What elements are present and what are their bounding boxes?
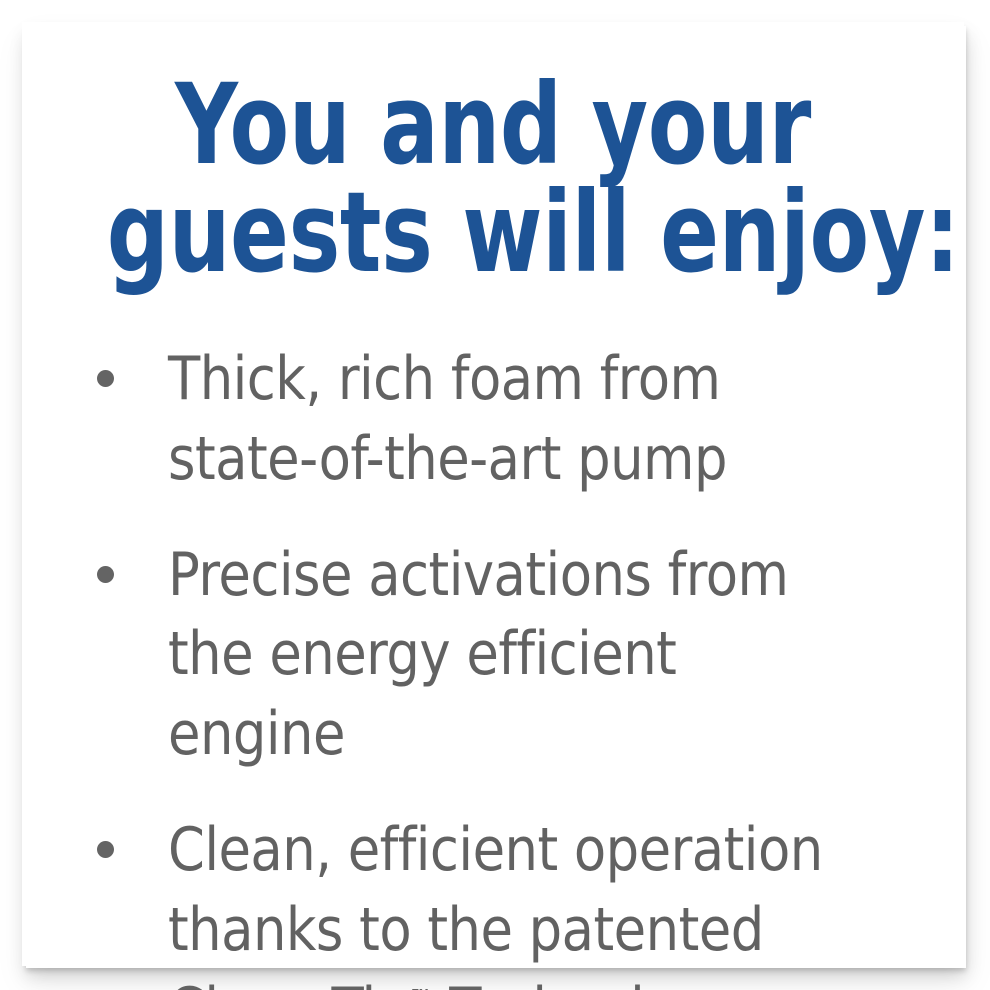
bullet-dot-icon [97,841,114,858]
list-item: Thick, rich foam from state-of-the-art p… [22,340,964,500]
screenshot-canvas: You and your guests will enjoy: Thick, r… [0,0,990,990]
benefits-card: You and your guests will enjoy: Thick, r… [22,22,964,966]
page-title: You and your guests will enjoy: [22,74,964,284]
list-item-text-tail: Technology [433,975,740,990]
list-item-text: Clean, efficient operation thanks to the… [168,811,868,990]
list-item-text-body: Clean, efficient operation thanks to the… [168,815,823,990]
list-item: Clean, efficient operation thanks to the… [22,811,964,990]
page-title-line-2: guests will enjoy: [107,179,879,286]
benefits-list: Thick, rich foam from state-of-the-art p… [22,340,964,990]
bullet-dot-icon [97,370,114,387]
page-title-line-1: You and your [107,71,879,178]
list-item: Precise activations from the energy effi… [22,536,964,775]
list-item-text: Precise activations from the energy effi… [168,536,868,775]
bullet-dot-icon [97,566,114,583]
list-item-text: Thick, rich foam from state-of-the-art p… [168,340,868,500]
trademark-symbol: ™ [409,983,433,990]
